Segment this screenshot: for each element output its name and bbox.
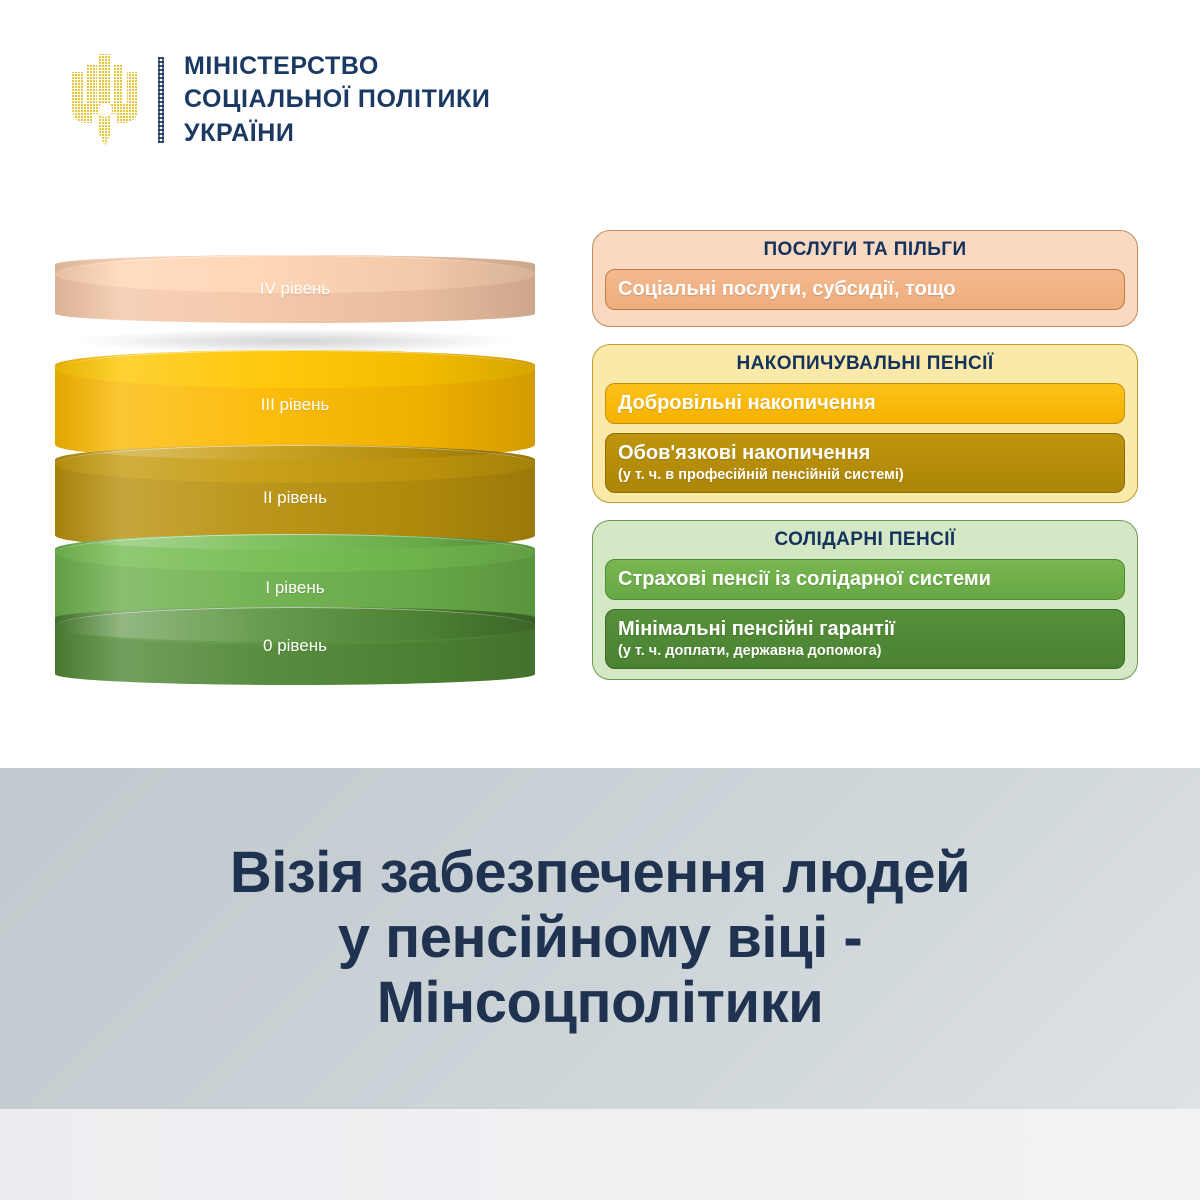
stack-level-iii: III рівень [55, 350, 535, 460]
cylinder-sheen [55, 607, 535, 685]
pension-levels-stack: IV рівень III рівень II рівень I рівень … [55, 255, 535, 685]
chip-social-services: Соціальні послуги, субсидії, тощо [605, 269, 1125, 310]
footer-strip [0, 1109, 1200, 1200]
panel-solidarity-title: СОЛІДАРНІ ПЕНСІЇ [605, 530, 1125, 551]
panel-services-and-benefits: ПОСЛУГИ ТА ПІЛЬГИ Соціальні послуги, суб… [592, 230, 1138, 327]
dotted-vertical-divider-icon [158, 57, 164, 143]
chip-minimum-guarantees: Мінімальні пенсійні гарантії (у т. ч. до… [605, 609, 1125, 669]
panel-funded-pensions: НАКОПИЧУВАЛЬНІ ПЕНСІЇ Добровільні накопи… [592, 344, 1138, 503]
chip-insurance-pensions-label: Страхові пенсії із солідарної системи [618, 567, 1112, 591]
stack-level-ii-label: II рівень [263, 488, 327, 508]
chip-voluntary-savings: Добровільні накопичення [605, 383, 1125, 424]
stack-level-0-label: 0 рівень [263, 636, 327, 656]
cylinder-sheen [55, 350, 535, 460]
chip-voluntary-savings-label: Добровільні накопичення [618, 391, 1112, 415]
stack-level-iv: IV рівень [55, 255, 535, 323]
stack-level-0: 0 рівень [55, 607, 535, 685]
stack-level-i-label: I рівень [265, 578, 324, 598]
stack-level-iv-label: IV рівень [260, 279, 331, 299]
stack-level-iii-label: III рівень [261, 395, 330, 415]
ukraine-trident-icon [66, 50, 144, 150]
ministry-name: МІНІСТЕРСТВО СОЦІАЛЬНОЇ ПОЛІТИКИ УКРАЇНИ [184, 50, 490, 150]
chip-minimum-guarantees-note: (у т. ч. доплати, державна допомога) [618, 642, 1112, 660]
chip-insurance-pensions: Страхові пенсії із солідарної системи [605, 559, 1125, 600]
chip-mandatory-savings: Обов'язкові накопичення (у т. ч. в профе… [605, 433, 1125, 493]
infographic-canvas: МІНІСТЕРСТВО СОЦІАЛЬНОЇ ПОЛІТИКИ УКРАЇНИ… [0, 0, 1200, 1200]
chip-social-services-label: Соціальні послуги, субсидії, тощо [618, 277, 1112, 301]
panel-solidarity-pensions: СОЛІДАРНІ ПЕНСІЇ Страхові пенсії із солі… [592, 520, 1138, 680]
cylinder-sheen [55, 255, 535, 323]
panel-services-title: ПОСЛУГИ ТА ПІЛЬГИ [605, 240, 1125, 261]
ministry-logo: МІНІСТЕРСТВО СОЦІАЛЬНОЇ ПОЛІТИКИ УКРАЇНИ [66, 50, 490, 150]
chip-minimum-guarantees-label: Мінімальні пенсійні гарантії [618, 617, 1112, 641]
chip-mandatory-savings-label: Обов'язкові накопичення [618, 441, 1112, 465]
page-title: Візія забезпечення людей у пенсійному ві… [170, 841, 1030, 1036]
panel-funded-title: НАКОПИЧУВАЛЬНІ ПЕНСІЇ [605, 354, 1125, 375]
title-band: Візія забезпечення людей у пенсійному ві… [0, 768, 1200, 1109]
chip-mandatory-savings-note: (у т. ч. в професійній пенсійній системі… [618, 466, 1112, 484]
pension-components-panels: ПОСЛУГИ ТА ПІЛЬГИ Соціальні послуги, суб… [592, 230, 1138, 697]
